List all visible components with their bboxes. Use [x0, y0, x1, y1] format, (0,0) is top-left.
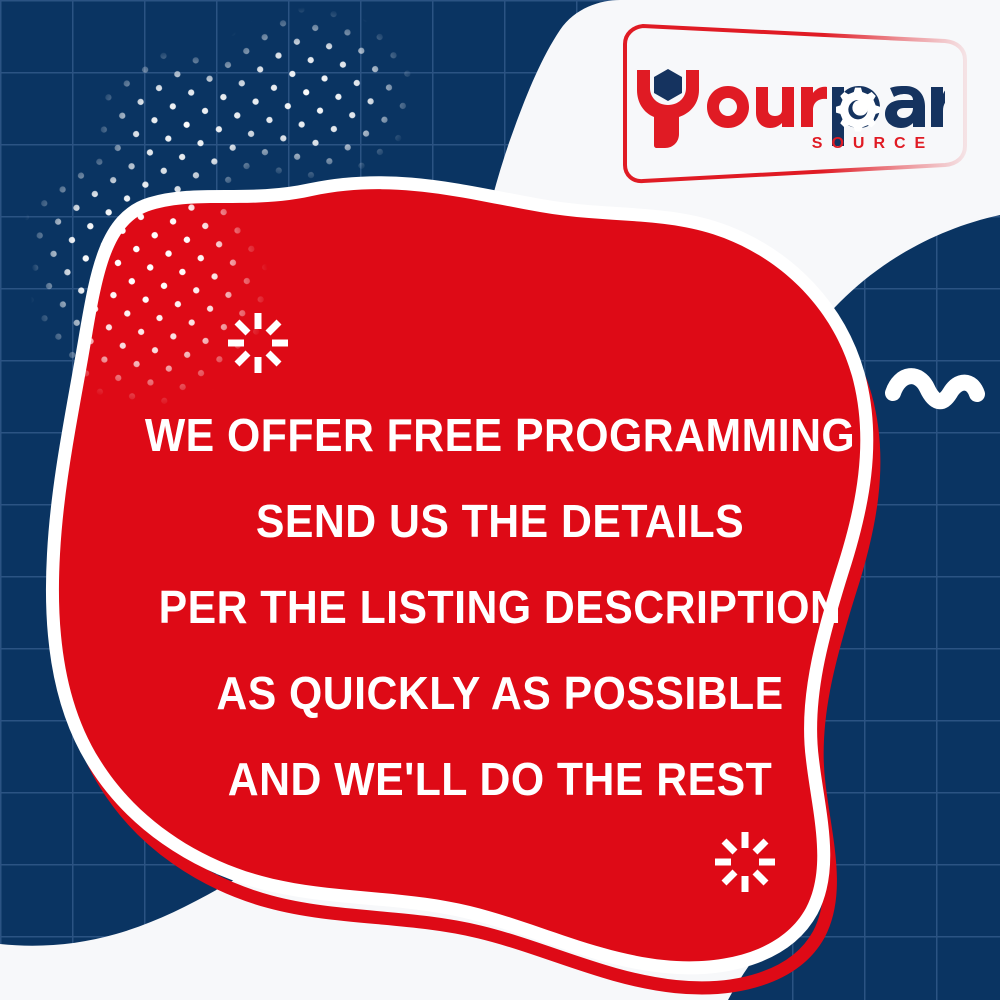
- promotional-poster: WE OFFER FREE PROGRAMMING SEND US THE DE…: [0, 0, 1000, 1000]
- sparkle-burst-top-icon: [228, 313, 288, 373]
- logo-wordmark: SOURCE: [625, 62, 945, 154]
- squiggle-wave-icon: [893, 376, 977, 401]
- sparkle-burst-bottom-icon: [715, 832, 775, 892]
- hex-nut-icon: [654, 69, 682, 101]
- logo-your-text: [707, 86, 827, 128]
- logo-badge[interactable]: SOURCE: [597, 22, 969, 185]
- logo-tagline: SOURCE: [812, 135, 934, 152]
- gear-icon: [836, 88, 880, 132]
- wrench-y-icon: [637, 69, 699, 148]
